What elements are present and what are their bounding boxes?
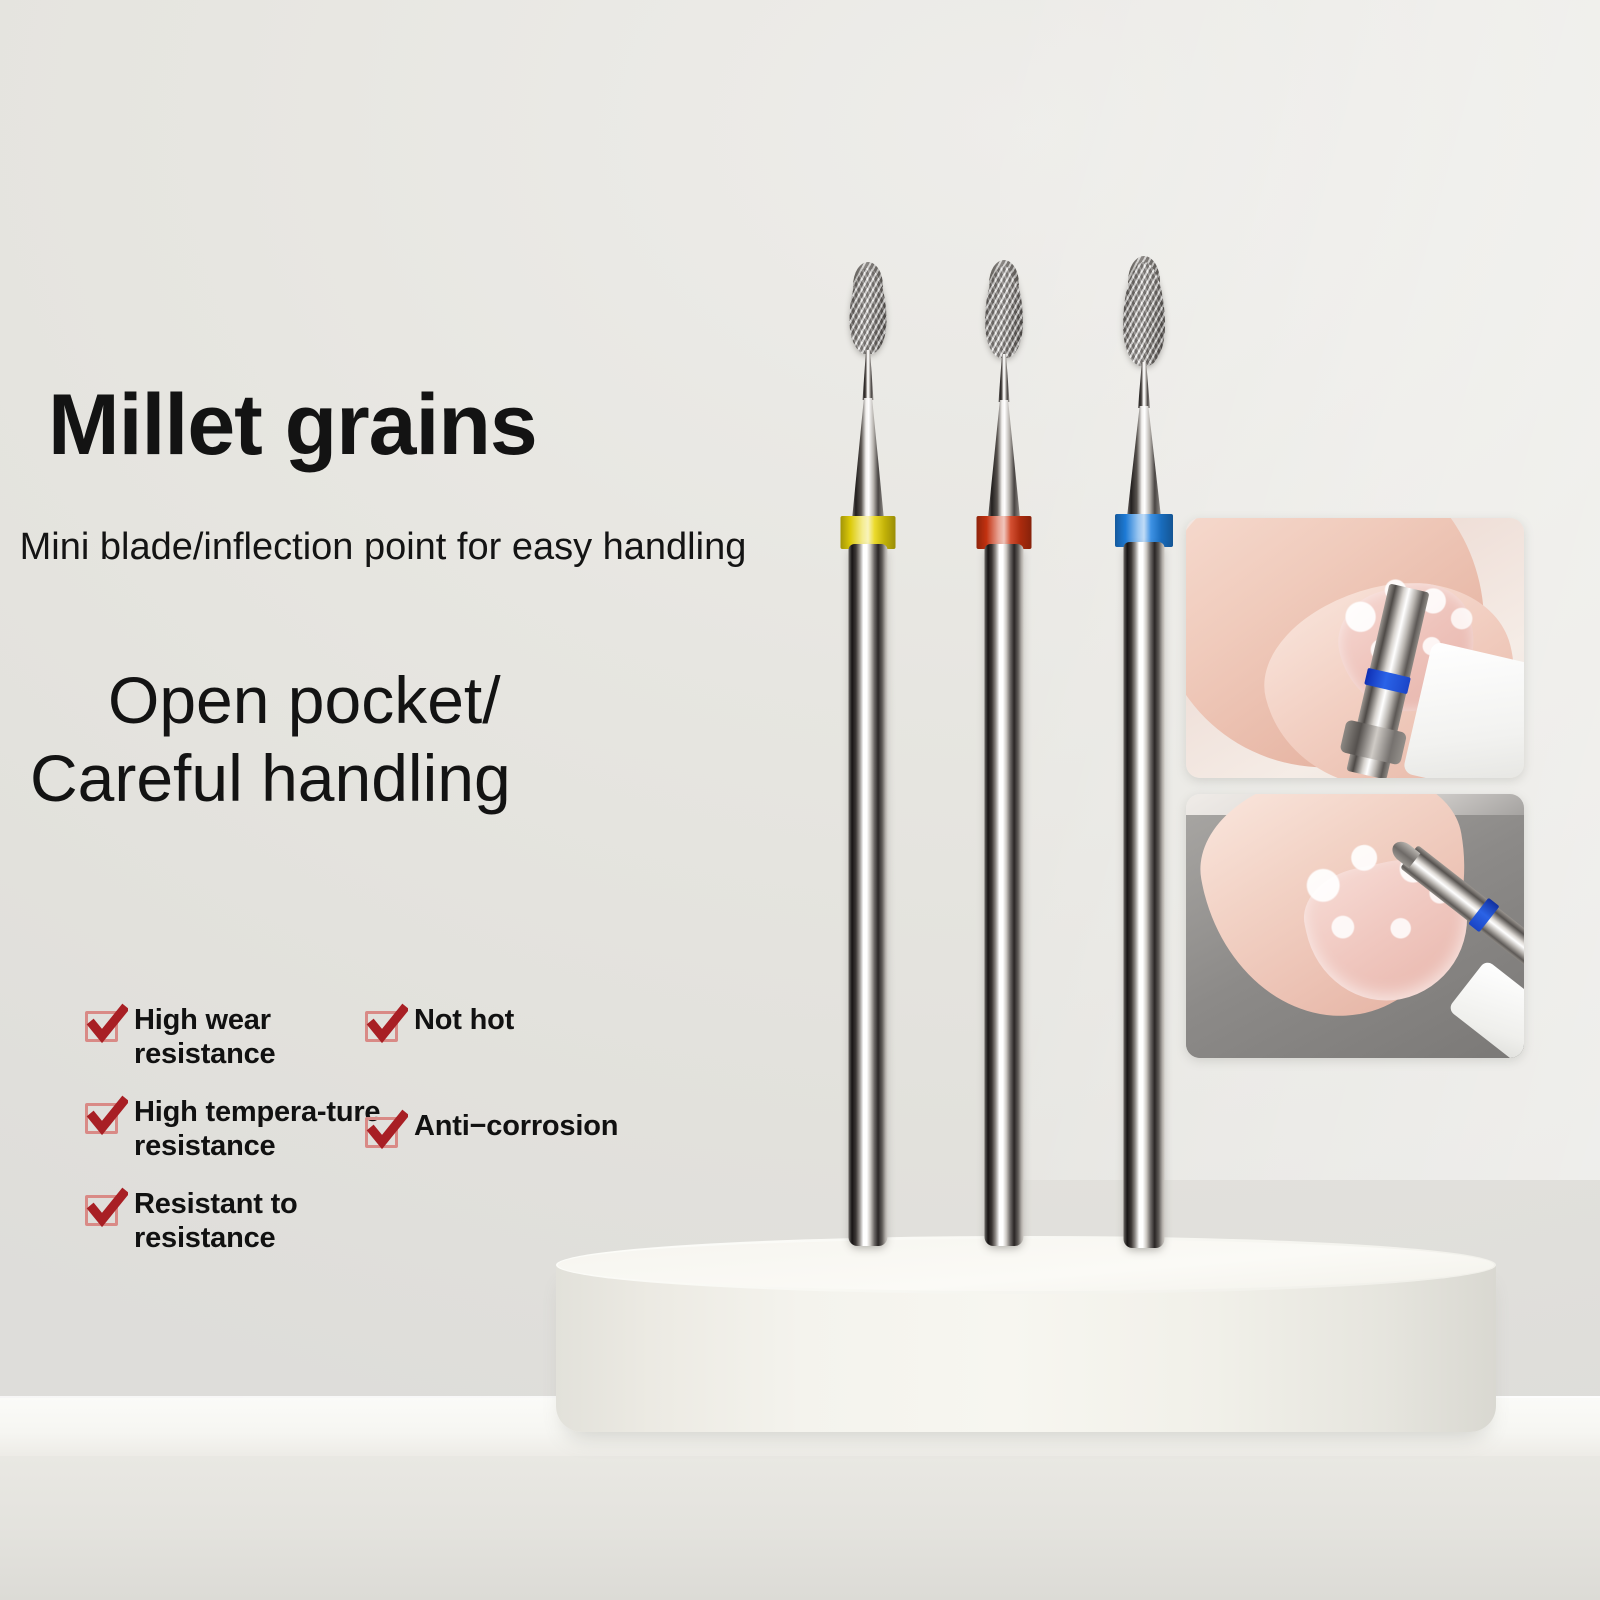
secondary-heading-line2: Careful handling	[30, 740, 740, 818]
bit-taper	[1126, 406, 1162, 526]
bit-shaft	[1124, 542, 1165, 1248]
page-subtitle: Mini blade/inflection point for easy han…	[18, 524, 748, 571]
feature-label: Resistant to resistance	[134, 1188, 334, 1255]
product-pedestal	[556, 1236, 1496, 1432]
feature-item-resistant-to-resistance: Resistant to resistance	[84, 1188, 334, 1255]
checkbox	[84, 1099, 124, 1137]
checkbox	[84, 1191, 124, 1229]
feature-label: Anti−corrosion	[414, 1110, 618, 1144]
bit-neck	[999, 354, 1010, 402]
check-icon	[86, 1003, 128, 1045]
bit-taper	[987, 400, 1021, 528]
checkbox	[364, 1113, 404, 1151]
check-icon	[366, 1003, 408, 1045]
feature-item-anti-corrosion: Anti−corrosion	[364, 1110, 664, 1151]
bit-neck	[1138, 362, 1150, 408]
feature-checklist: High wear resistance High tempera-ture r…	[84, 1004, 684, 1254]
bit-neck	[863, 350, 874, 400]
page-title: Millet grains	[48, 382, 537, 468]
bit-shaft	[985, 544, 1024, 1246]
feature-label: High tempera-ture resistance	[134, 1096, 394, 1163]
secondary-heading: Open pocket/ Careful handling	[30, 662, 740, 818]
product-red-grit-bit[interactable]	[962, 260, 1046, 1246]
checkbox	[364, 1007, 404, 1045]
bit-shaft	[849, 544, 888, 1246]
nail-edge-filing-photo[interactable]	[1186, 794, 1524, 1058]
product-marketing-image: Millet grains Mini blade/inflection poin…	[0, 0, 1600, 1600]
check-icon	[86, 1095, 128, 1137]
checkbox	[84, 1007, 124, 1045]
bit-taper	[851, 398, 885, 530]
table-front-face	[0, 1456, 1600, 1600]
feature-item-not-hot: Not hot	[364, 1004, 594, 1045]
pedestal-top-rim	[558, 1239, 1494, 1291]
secondary-heading-line1: Open pocket/	[30, 662, 740, 740]
product-yellow-grit-bit[interactable]	[826, 262, 910, 1246]
feature-label: Not hot	[414, 1004, 514, 1038]
feature-item-high-temperature-resistance: High tempera-ture resistance	[84, 1096, 394, 1163]
nail-cuticle-detail-photo[interactable]	[1186, 518, 1524, 778]
feature-label: High wear resistance	[134, 1004, 314, 1071]
product-blue-grit-bit[interactable]	[1100, 256, 1188, 1248]
check-icon	[366, 1109, 408, 1151]
feature-item-high-wear-resistance: High wear resistance	[84, 1004, 314, 1071]
check-icon	[86, 1187, 128, 1229]
